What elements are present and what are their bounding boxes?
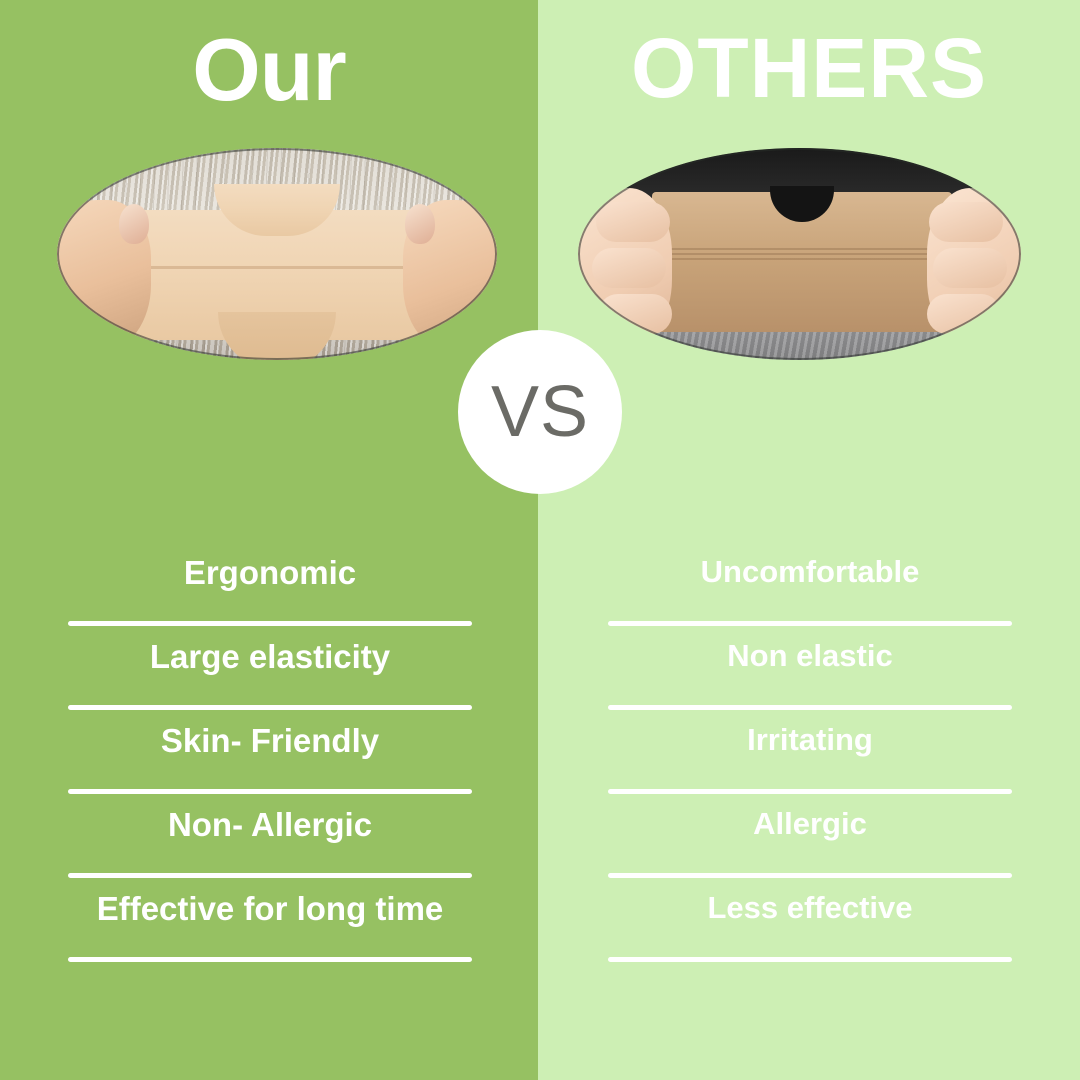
left-finger-2: [592, 248, 666, 288]
feature-label: Uncomfortable: [701, 542, 920, 587]
our-product-image-content: [57, 148, 497, 360]
others-product-image-content: [578, 148, 1021, 360]
right-column-title: OTHERS: [538, 26, 1080, 110]
our-feature-list: Ergonomic Large elasticity Skin- Friendl…: [68, 542, 472, 962]
beige-silicone-pad: [119, 210, 435, 340]
item-divider: [608, 957, 1012, 962]
tan-rigid-pad: [652, 192, 952, 332]
pad-crease-line: [127, 266, 427, 269]
left-finger-1: [596, 202, 670, 242]
feature-label: Non- Allergic: [168, 794, 372, 841]
right-finger-3: [927, 294, 1001, 334]
list-item: Effective for long time: [68, 878, 472, 962]
list-item: Non elastic: [608, 626, 1012, 710]
feature-label: Large elasticity: [150, 626, 390, 673]
tan-pad-crease-line: [658, 248, 948, 260]
feature-label: Irritating: [747, 710, 873, 755]
others-feature-list: Uncomfortable Non elastic Irritating All…: [608, 542, 1012, 962]
feature-label: Allergic: [753, 794, 867, 839]
comparison-infographic: Our OTHERS: [0, 0, 1080, 1080]
list-item: Skin- Friendly: [68, 710, 472, 794]
list-item: Non- Allergic: [68, 794, 472, 878]
left-thumbnail: [119, 204, 149, 244]
right-finger-2: [933, 248, 1007, 288]
list-item: Large elasticity: [68, 626, 472, 710]
right-thumbnail: [405, 204, 435, 244]
right-finger-1: [929, 202, 1003, 242]
list-item: Less effective: [608, 878, 1012, 962]
our-product-image: [57, 148, 497, 360]
feature-label: Less effective: [707, 878, 912, 923]
vs-label: VS: [491, 376, 589, 448]
list-item: Ergonomic: [68, 542, 472, 626]
list-item: Allergic: [608, 794, 1012, 878]
list-item: Uncomfortable: [608, 542, 1012, 626]
item-divider: [68, 957, 472, 962]
others-product-image: [578, 148, 1021, 360]
feature-label: Skin- Friendly: [161, 710, 379, 757]
vs-badge: VS: [458, 330, 622, 494]
list-item: Irritating: [608, 710, 1012, 794]
feature-label: Effective for long time: [97, 878, 444, 925]
feature-label: Ergonomic: [184, 542, 356, 589]
feature-label: Non elastic: [727, 626, 892, 671]
left-finger-3: [598, 294, 672, 334]
left-column-title: Our: [0, 26, 538, 114]
